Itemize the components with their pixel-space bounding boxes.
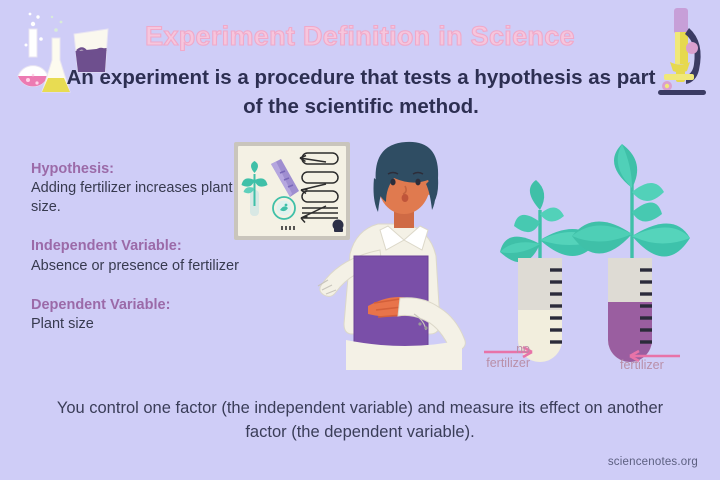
definition-label: Dependent Variable: — [31, 296, 246, 315]
tube-label-fertilizer: fertilizer — [620, 358, 696, 372]
definition-dependent-variable: Dependent Variable: Plant size — [31, 296, 246, 334]
definition-independent-variable: Independent Variable: Absence or presenc… — [31, 237, 246, 275]
test-tube-fertilizer-icon — [608, 258, 652, 362]
whiteboard-magnet-icon — [333, 220, 344, 233]
infographic-poster: Experiment Definition in Science An expe… — [0, 0, 720, 480]
microscope-illustration — [644, 2, 718, 96]
source-credit: sciencenotes.org — [608, 456, 698, 468]
definition-body: Absence or presence of fertilizer — [31, 257, 246, 276]
page-title: Experiment Definition in Science — [0, 21, 720, 52]
page-caption: You control one factor (the independent … — [50, 396, 670, 445]
graduation-marks-icon — [640, 270, 652, 342]
tube-label-no-fertilizer: no fertilizer — [474, 342, 530, 371]
scientist-and-whiteboard-icon — [228, 128, 478, 370]
definition-body: Adding fertilizer increases plant size. — [31, 179, 246, 217]
definition-list: Hypothesis: Adding fertilizer increases … — [31, 160, 246, 354]
definition-hypothesis: Hypothesis: Adding fertilizer increases … — [31, 160, 246, 217]
microscope-icon — [644, 2, 718, 96]
definition-body: Plant size — [31, 315, 246, 334]
graduation-marks-icon — [550, 270, 562, 342]
whiteboard-icon — [234, 142, 350, 240]
definition-label: Hypothesis: — [31, 160, 246, 179]
definition-label: Independent Variable: — [31, 237, 246, 256]
page-subtitle: An experiment is a procedure that tests … — [56, 63, 666, 121]
scientist-scene-illustration — [228, 128, 478, 370]
